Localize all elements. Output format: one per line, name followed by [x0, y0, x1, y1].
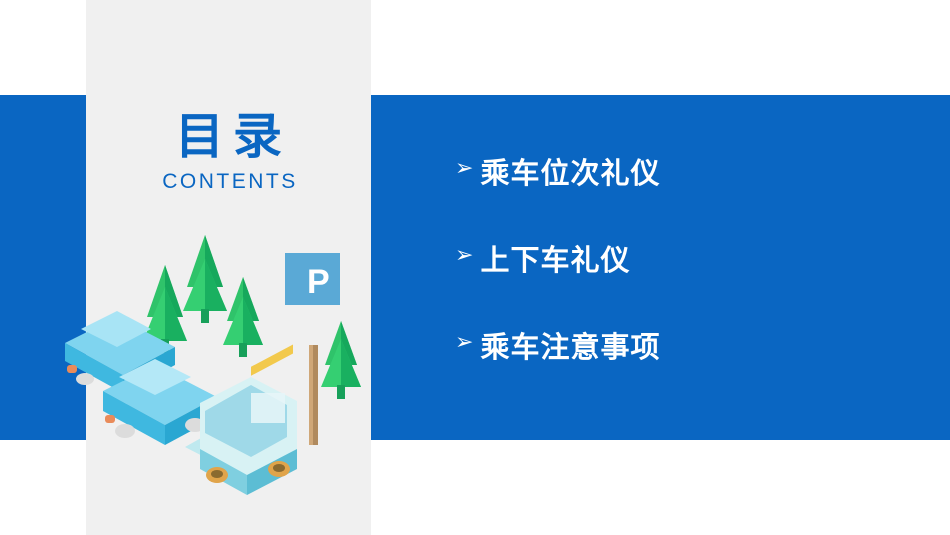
- chevron-right-bullet-icon: ➢: [455, 332, 473, 354]
- van-icon: [185, 344, 297, 495]
- title-block: 目录 CONTENTS: [86, 110, 371, 194]
- tree-icon: [223, 277, 263, 357]
- page-subtitle: CONTENTS: [86, 170, 371, 194]
- list-item[interactable]: ➢ 上下车礼仪: [455, 237, 925, 279]
- chevron-right-bullet-icon: ➢: [455, 158, 473, 180]
- list-item[interactable]: ➢ 乘车位次礼仪: [455, 150, 925, 192]
- parking-sign-letter: P: [307, 263, 330, 301]
- list-item-label: 上下车礼仪: [480, 237, 630, 279]
- list-item[interactable]: ➢ 乘车注意事项: [455, 324, 925, 366]
- tree-icon: [321, 321, 361, 399]
- chevron-right-bullet-icon: ➢: [455, 245, 473, 267]
- cars-parking-illustration: P: [55, 225, 385, 515]
- page-title: 目录: [86, 110, 371, 164]
- slide-root: 目录 CONTENTS ➢ 乘车位次礼仪 ➢ 上下车礼仪 ➢ 乘车注意事项: [0, 0, 950, 535]
- tree-icon: [183, 235, 227, 323]
- contents-list: ➢ 乘车位次礼仪 ➢ 上下车礼仪 ➢ 乘车注意事项: [455, 150, 925, 411]
- list-item-label: 乘车注意事项: [480, 324, 660, 366]
- list-item-label: 乘车位次礼仪: [480, 150, 660, 192]
